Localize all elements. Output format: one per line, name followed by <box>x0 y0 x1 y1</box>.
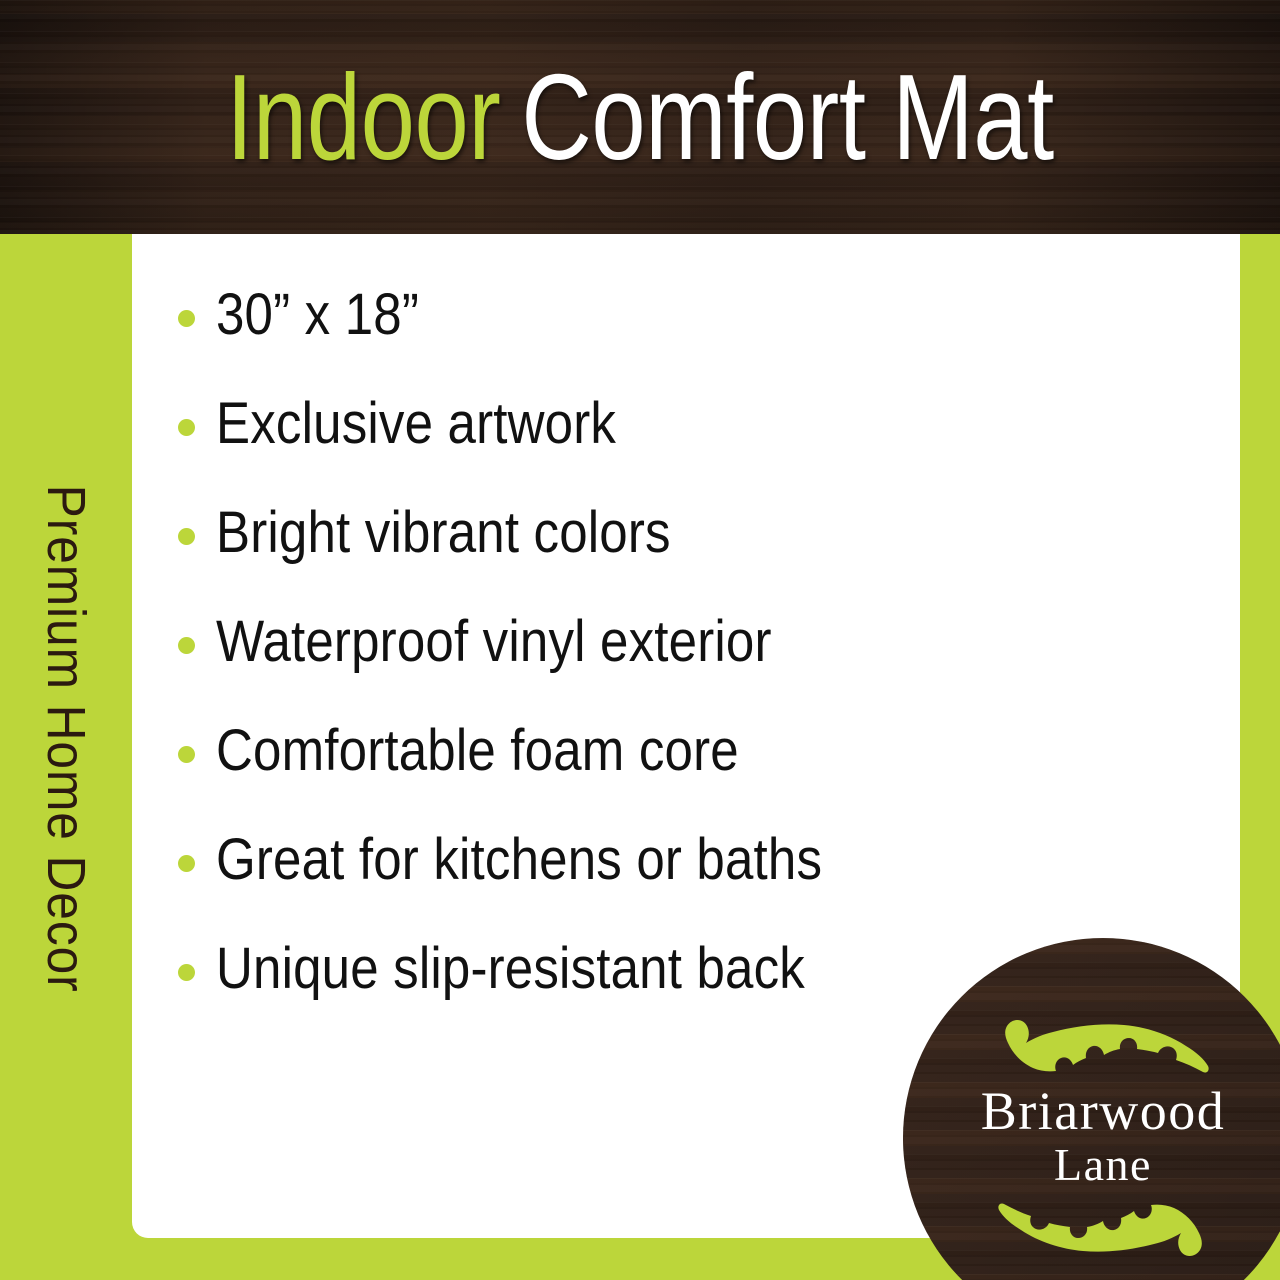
oak-leaf-icon <box>996 1014 1211 1076</box>
header-banner: Indoor Comfort Mat <box>0 0 1280 234</box>
feature-list: 30” x 18” Exclusive artwork Bright vibra… <box>178 286 1018 1049</box>
list-item: Exclusive artwork <box>178 395 1018 504</box>
list-item: Great for kitchens or baths <box>178 831 1018 940</box>
title-main-words: Comfort Mat <box>521 56 1053 178</box>
feature-label: Exclusive artwork <box>216 395 616 453</box>
list-item: Unique slip-resistant back <box>178 940 1018 1049</box>
sidebar-tagline-label: Premium Home Decor <box>39 485 93 1030</box>
feature-label: Unique slip-resistant back <box>216 940 805 998</box>
feature-label: Comfortable foam core <box>216 722 739 780</box>
page-title: Indoor Comfort Mat <box>128 0 1152 234</box>
logo-brand-name: Briarwood <box>903 1084 1280 1139</box>
list-item: Waterproof vinyl exterior <box>178 613 1018 722</box>
feature-label: Waterproof vinyl exterior <box>216 613 772 671</box>
feature-label: Bright vibrant colors <box>216 504 671 562</box>
feature-label: 30” x 18” <box>216 286 419 344</box>
bullet-dot-icon <box>178 746 195 763</box>
bullet-dot-icon <box>178 964 195 981</box>
oak-leaf-icon <box>996 1200 1211 1262</box>
bullet-dot-icon <box>178 419 195 436</box>
bullet-dot-icon <box>178 528 195 545</box>
list-item: Bright vibrant colors <box>178 504 1018 613</box>
logo-wordmark: Briarwood Lane <box>903 1084 1280 1192</box>
sidebar-tagline: Premium Home Decor <box>0 234 132 1280</box>
brand-logo: Briarwood Lane <box>903 938 1280 1280</box>
bullet-dot-icon <box>178 855 195 872</box>
bullet-dot-icon <box>178 637 195 654</box>
product-feature-graphic: Indoor Comfort Mat Premium Home Decor 30… <box>0 0 1280 1280</box>
title-accent-word: Indoor <box>226 56 500 178</box>
list-item: Comfortable foam core <box>178 722 1018 831</box>
list-item: 30” x 18” <box>178 286 1018 395</box>
feature-label: Great for kitchens or baths <box>216 831 822 889</box>
bullet-dot-icon <box>178 310 195 327</box>
logo-brand-sub: Lane <box>903 1139 1280 1192</box>
